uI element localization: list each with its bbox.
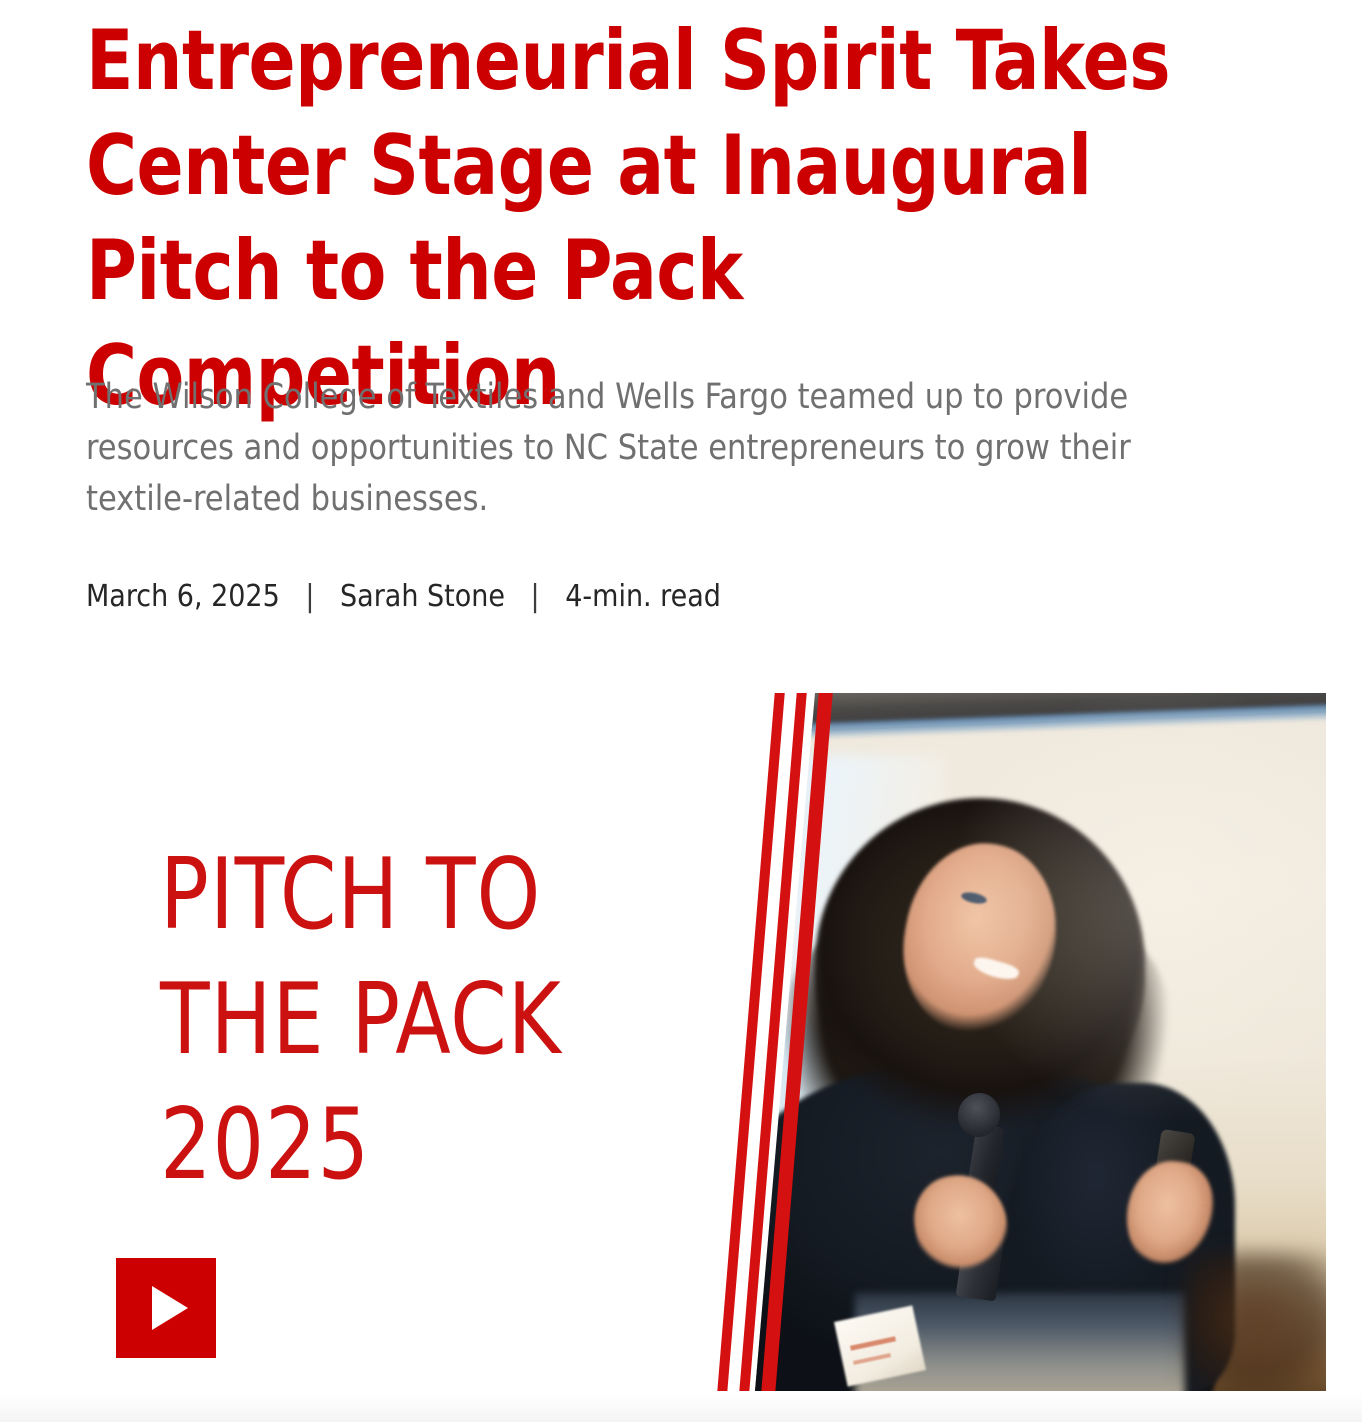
- play-button[interactable]: [116, 1258, 216, 1358]
- page-bottom-band: [0, 1391, 1362, 1422]
- page-title: Entrepreneurial Spirit Takes Center Stag…: [86, 0, 1216, 428]
- article-subtitle: The Wilson College of Textiles and Wells…: [86, 372, 1245, 525]
- play-icon: [152, 1286, 188, 1330]
- byline-author[interactable]: Sarah Stone: [340, 579, 505, 614]
- byline-separator-2: |: [514, 578, 557, 616]
- byline-date: March 6, 2025: [86, 579, 280, 614]
- photo-foreground-blur: [1185, 1253, 1326, 1391]
- article-page: Entrepreneurial Spirit Takes Center Stag…: [0, 0, 1362, 1422]
- hero-photo: [755, 693, 1326, 1391]
- article-header: Entrepreneurial Spirit Takes Center Stag…: [86, 0, 1301, 428]
- byline-read-time: 4-min. read: [565, 579, 721, 614]
- hero-title: PITCH TO THE PACK 2025: [160, 833, 562, 1208]
- hero-video-thumbnail[interactable]: PITCH TO THE PACK 2025: [0, 693, 1326, 1391]
- byline: March 6, 2025 | Sarah Stone | 4-min. rea…: [86, 578, 721, 616]
- byline-separator-1: |: [288, 578, 331, 616]
